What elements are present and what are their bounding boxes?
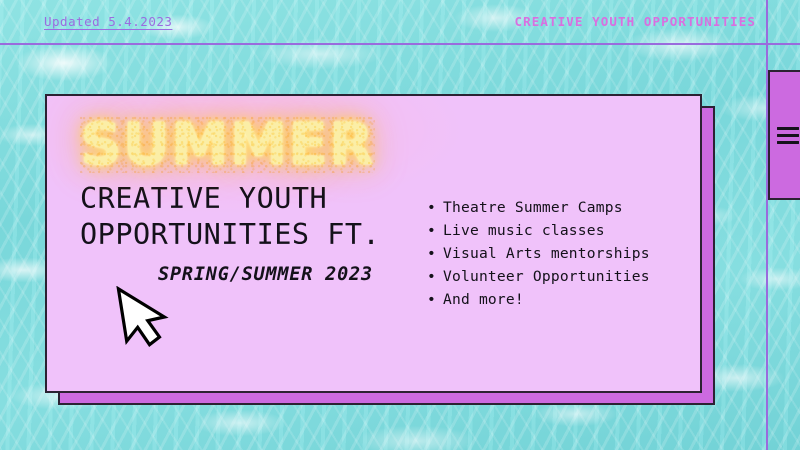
brand-title: CREATIVE YOUTH OPPORTUNITIES bbox=[514, 14, 756, 29]
vertical-divider bbox=[766, 0, 768, 450]
header-divider bbox=[0, 43, 800, 45]
list-item: Volunteer Opportunities bbox=[427, 265, 689, 288]
feature-list: Theatre Summer Camps Live music classes … bbox=[427, 196, 689, 311]
card-right-column: Theatre Summer Camps Live music classes … bbox=[427, 196, 689, 311]
promo-card: SUMMER CREATIVE YOUTH OPPORTUNITIES FT. … bbox=[45, 94, 702, 393]
neon-headline-summer: SUMMER bbox=[80, 116, 375, 173]
list-item: And more! bbox=[427, 288, 689, 311]
card-subtitle-season: SPRING/SUMMER 2023 bbox=[158, 264, 440, 285]
card-headline: CREATIVE YOUTH OPPORTUNITIES FT. bbox=[80, 181, 440, 254]
card-left-column: SUMMER CREATIVE YOUTH OPPORTUNITIES FT. … bbox=[80, 116, 440, 285]
side-menu-button[interactable] bbox=[768, 70, 800, 200]
updated-date-link[interactable]: Updated 5.4.2023 bbox=[44, 14, 172, 29]
list-item: Visual Arts mentorships bbox=[427, 242, 689, 265]
list-item: Live music classes bbox=[427, 219, 689, 242]
page-header: Updated 5.4.2023 CREATIVE YOUTH OPPORTUN… bbox=[0, 0, 800, 43]
arrow-cursor-icon bbox=[112, 278, 178, 354]
hamburger-icon bbox=[777, 127, 799, 144]
list-item: Theatre Summer Camps bbox=[427, 196, 689, 219]
